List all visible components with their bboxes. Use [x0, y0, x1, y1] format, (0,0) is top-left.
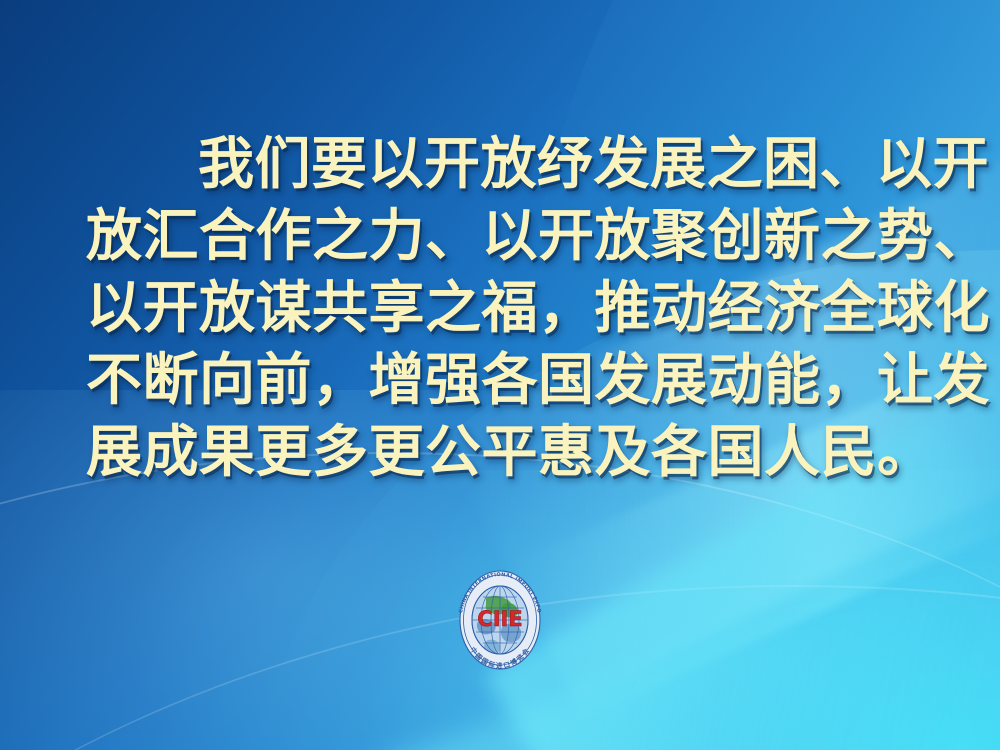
quote-line-5: 展成果更多更公平惠及各国人民。 [86, 416, 906, 488]
quote-line-2: 放汇合作之力、以开放聚创新之势、 [86, 200, 906, 272]
quote-line-4: 不断向前，增强各国发展动能，让发 [86, 344, 906, 416]
quote-line-1: 我们要以开放纾发展之困、以开 [86, 128, 906, 200]
quote-poster: 我们要以开放纾发展之困、以开 放汇合作之力、以开放聚创新之势、 以开放谋共享之福… [0, 0, 1000, 750]
ciie-acronym: CIIE [477, 607, 522, 631]
ciie-logo-icon: CIIE CHINA INTERNATIONAL IMPORT EXPO 中国国… [452, 568, 548, 672]
background-glow-bottom-center [120, 470, 1000, 750]
ciie-logo: CIIE CHINA INTERNATIONAL IMPORT EXPO 中国国… [452, 568, 548, 672]
quote-line-3: 以开放谋共享之福，推动经济全球化 [86, 272, 906, 344]
quote-text-block: 我们要以开放纾发展之困、以开 放汇合作之力、以开放聚创新之势、 以开放谋共享之福… [86, 128, 906, 488]
